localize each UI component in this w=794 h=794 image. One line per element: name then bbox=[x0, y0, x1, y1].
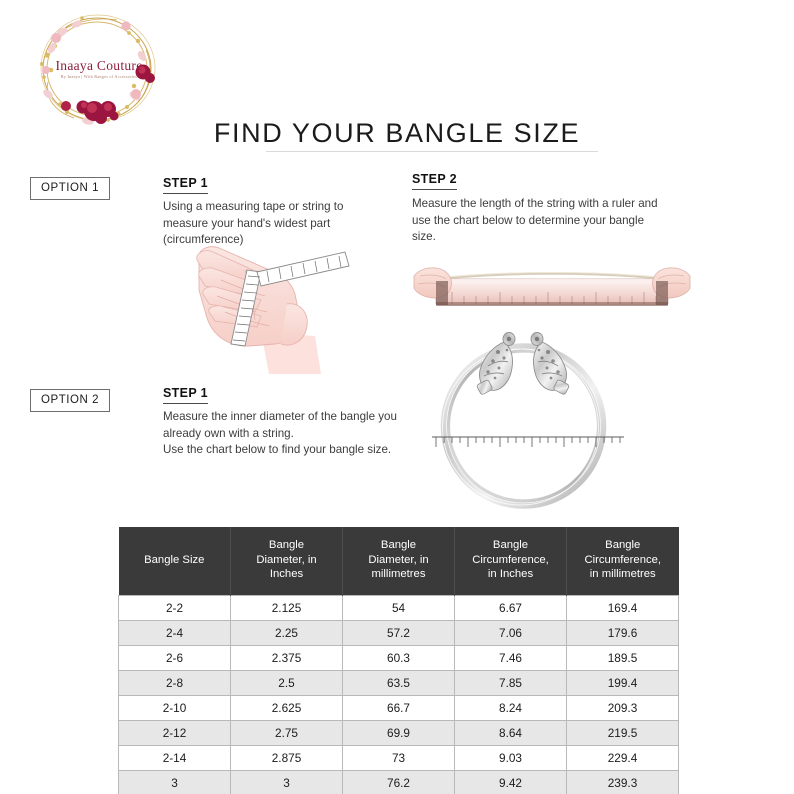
cell-bangle-size: 2-14 bbox=[119, 745, 231, 770]
table-row: 2-142.875739.03229.4 bbox=[119, 745, 679, 770]
option-1-step-2-body: Measure the length of the string with a … bbox=[412, 196, 670, 246]
table-header-row: Bangle Size Bangle Diameter, in Inches B… bbox=[119, 527, 679, 595]
cell-diameter-inches: 2.75 bbox=[231, 720, 343, 745]
cell-bangle-size: 2-6 bbox=[119, 645, 231, 670]
cell-diameter-inches: 2.125 bbox=[231, 595, 343, 620]
option-1-step-2-heading: STEP 2 bbox=[412, 172, 457, 190]
header-line: Inches bbox=[270, 568, 303, 580]
col-header-circumference-mm: Bangle Circumference, in millimetres bbox=[567, 527, 679, 595]
cell-bangle-size: 2-10 bbox=[119, 695, 231, 720]
cell-diameter-inches: 2.375 bbox=[231, 645, 343, 670]
cell-circumference-inches: 8.24 bbox=[455, 695, 567, 720]
cell-circumference-mm: 229.4 bbox=[567, 745, 679, 770]
cell-bangle-size: 3 bbox=[119, 770, 231, 794]
cell-circumference-mm: 189.5 bbox=[567, 645, 679, 670]
cell-diameter-mm: 60.3 bbox=[343, 645, 455, 670]
option-2-badge: OPTION 2 bbox=[30, 389, 110, 412]
cell-circumference-mm: 169.4 bbox=[567, 595, 679, 620]
cell-bangle-size: 2-12 bbox=[119, 720, 231, 745]
cell-circumference-inches: 6.67 bbox=[455, 595, 567, 620]
cell-circumference-inches: 7.06 bbox=[455, 620, 567, 645]
bangle-size-guide-page: Inaaya Couture By Inaaya | With Ranges o… bbox=[0, 0, 794, 794]
option-1-badge: OPTION 1 bbox=[30, 177, 110, 200]
cell-circumference-inches: 8.64 bbox=[455, 720, 567, 745]
cell-diameter-inches: 2.875 bbox=[231, 745, 343, 770]
brand-name: Inaaya Couture bbox=[40, 58, 158, 74]
col-header-circumference-inches: Bangle Circumference, in Inches bbox=[455, 527, 567, 595]
cell-circumference-inches: 7.46 bbox=[455, 645, 567, 670]
table-row: 2-62.37560.37.46189.5 bbox=[119, 645, 679, 670]
bangle-size-table: Bangle Size Bangle Diameter, in Inches B… bbox=[118, 527, 679, 794]
cell-diameter-inches: 3 bbox=[231, 770, 343, 794]
cell-diameter-inches: 2.5 bbox=[231, 670, 343, 695]
cell-diameter-mm: 76.2 bbox=[343, 770, 455, 794]
header-line: in Inches bbox=[488, 568, 533, 580]
header-line: Bangle bbox=[605, 539, 640, 551]
cell-diameter-inches: 2.25 bbox=[231, 620, 343, 645]
title-divider bbox=[266, 151, 598, 152]
header-line: in millimetres bbox=[590, 568, 656, 580]
cell-diameter-mm: 57.2 bbox=[343, 620, 455, 645]
table-row: 2-122.7569.98.64219.5 bbox=[119, 720, 679, 745]
option-2-step-1-heading: STEP 1 bbox=[163, 386, 208, 404]
cell-circumference-mm: 239.3 bbox=[567, 770, 679, 794]
cell-circumference-mm: 199.4 bbox=[567, 670, 679, 695]
table-row: 3376.29.42239.3 bbox=[119, 770, 679, 794]
hands-holding-string-against-ruler-photo bbox=[412, 248, 692, 330]
header-line: Diameter, in bbox=[368, 554, 428, 566]
cell-bangle-size: 2-4 bbox=[119, 620, 231, 645]
col-header-bangle-size: Bangle Size bbox=[119, 527, 231, 595]
table-row: 2-82.563.57.85199.4 bbox=[119, 670, 679, 695]
cell-diameter-mm: 54 bbox=[343, 595, 455, 620]
cell-diameter-mm: 69.9 bbox=[343, 720, 455, 745]
table-row: 2-22.125546.67169.4 bbox=[119, 595, 679, 620]
bangle-terminal-right bbox=[531, 333, 570, 396]
hand-with-measuring-tape-illustration bbox=[195, 240, 375, 375]
table-body: 2-22.125546.67169.42-42.2557.27.06179.62… bbox=[119, 595, 679, 794]
cell-circumference-mm: 219.5 bbox=[567, 720, 679, 745]
option-1-step-1-heading: STEP 1 bbox=[163, 176, 208, 194]
header-line: Circumference, bbox=[472, 554, 549, 566]
header-line: Diameter, in bbox=[256, 554, 316, 566]
cell-diameter-mm: 66.7 bbox=[343, 695, 455, 720]
cell-bangle-size: 2-8 bbox=[119, 670, 231, 695]
header-line: Bangle bbox=[381, 539, 416, 551]
bangle-terminal-left bbox=[476, 333, 515, 396]
header-line: millimetres bbox=[372, 568, 426, 580]
col-header-diameter-mm: Bangle Diameter, in millimetres bbox=[343, 527, 455, 595]
header-line: Bangle Size bbox=[144, 554, 204, 566]
option-2-step-1-body: Measure the inner diameter of the bangle… bbox=[163, 409, 413, 459]
page-title: FIND YOUR BANGLE SIZE bbox=[0, 118, 794, 149]
cell-diameter-mm: 63.5 bbox=[343, 670, 455, 695]
cell-circumference-mm: 179.6 bbox=[567, 620, 679, 645]
col-header-diameter-inches: Bangle Diameter, in Inches bbox=[231, 527, 343, 595]
cell-circumference-inches: 9.42 bbox=[455, 770, 567, 794]
table-row: 2-102.62566.78.24209.3 bbox=[119, 695, 679, 720]
cell-circumference-inches: 7.85 bbox=[455, 670, 567, 695]
header-line: Bangle bbox=[269, 539, 304, 551]
cell-diameter-mm: 73 bbox=[343, 745, 455, 770]
brand-tagline: By Inaaya | With Ranges of Accessories bbox=[40, 74, 158, 79]
table-row: 2-42.2557.27.06179.6 bbox=[119, 620, 679, 645]
bangle-size-chart: Bangle Size Bangle Diameter, in Inches B… bbox=[118, 527, 678, 794]
cell-circumference-inches: 9.03 bbox=[455, 745, 567, 770]
header-line: Bangle bbox=[493, 539, 528, 551]
cell-diameter-inches: 2.625 bbox=[231, 695, 343, 720]
silver-cuff-bangle-with-ruler-photo bbox=[418, 330, 628, 520]
cell-circumference-mm: 209.3 bbox=[567, 695, 679, 720]
cell-bangle-size: 2-2 bbox=[119, 595, 231, 620]
brand-logo: Inaaya Couture By Inaaya | With Ranges o… bbox=[22, 8, 172, 130]
header-line: Circumference, bbox=[584, 554, 661, 566]
